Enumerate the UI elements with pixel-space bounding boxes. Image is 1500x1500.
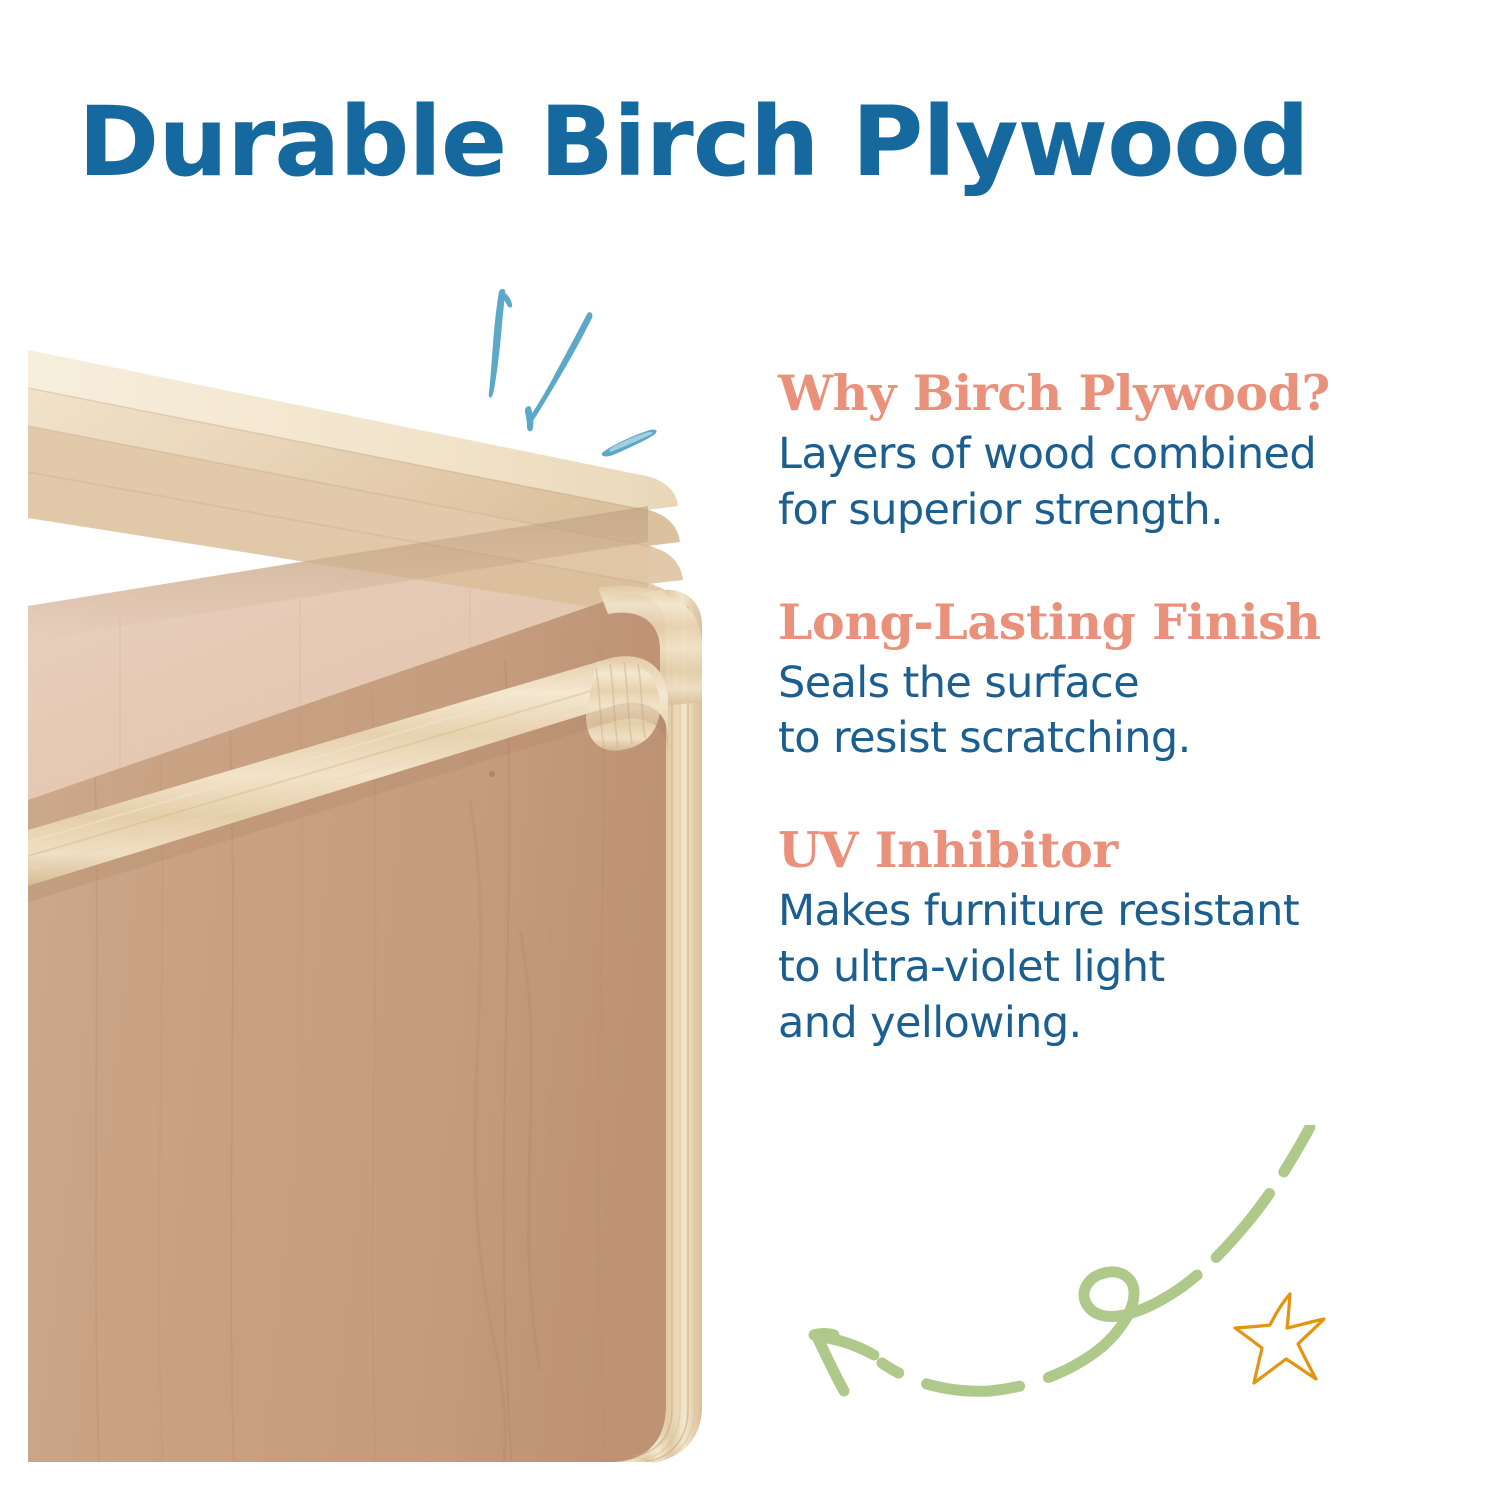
feature-heading: Long-Lasting Finish [778, 595, 1418, 650]
feature-list: Why Birch Plywood? Layers of wood combin… [778, 366, 1418, 1052]
feature-item: Why Birch Plywood? Layers of wood combin… [778, 366, 1418, 539]
feature-body: Layers of wood combined for superior str… [778, 427, 1418, 539]
feature-item: Long-Lasting Finish Seals the surface to… [778, 595, 1418, 768]
hand-drawn-star-icon [1232, 1286, 1337, 1391]
infographic-page: Durable Birch Plywood [0, 0, 1500, 1500]
feature-heading: Why Birch Plywood? [778, 366, 1418, 421]
feature-body: Makes furniture resistant to ultra-viole… [778, 884, 1418, 1052]
curved-dashed-arrow-icon [790, 1125, 1350, 1425]
page-title: Durable Birch Plywood [78, 92, 1465, 193]
feature-body: Seals the surface to resist scratching. [778, 656, 1418, 768]
feature-heading: UV Inhibitor [778, 823, 1418, 878]
product-photo [0, 330, 760, 1475]
feature-item: UV Inhibitor Makes furniture resistant t… [778, 823, 1418, 1052]
